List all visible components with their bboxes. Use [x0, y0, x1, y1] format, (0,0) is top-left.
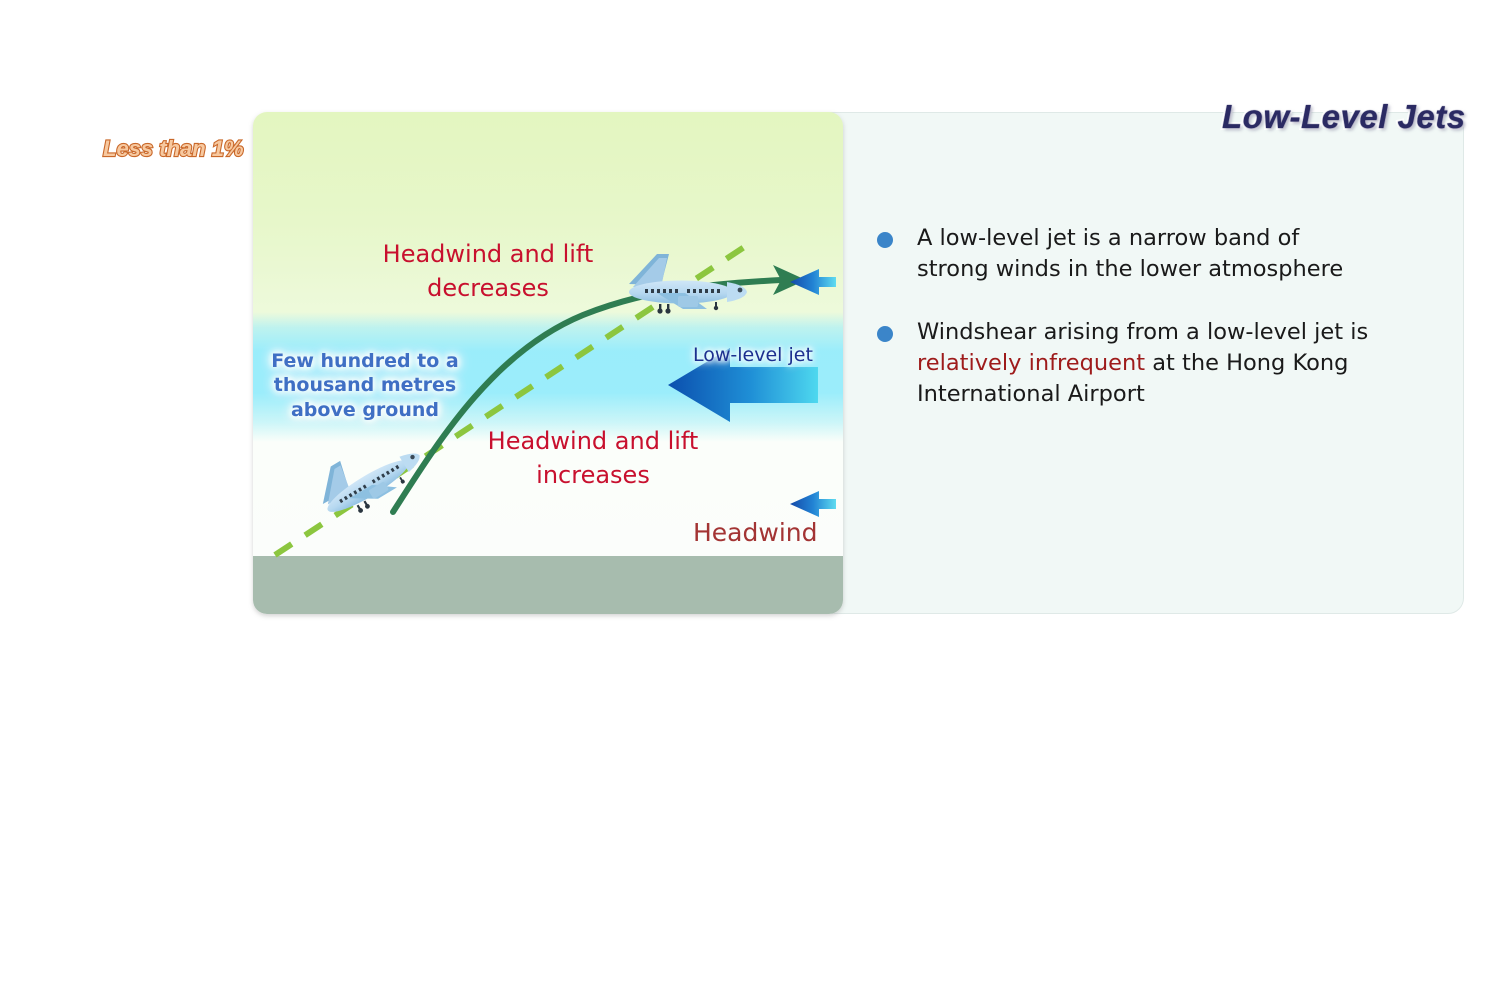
page-title: Low-Level Jets: [1222, 98, 1466, 136]
headwind-arrow-bottom-icon: [790, 491, 836, 517]
bullet-dot-icon: [877, 232, 893, 248]
bullet-1-segment-1: A low-level jet is a narrow band of stro…: [917, 225, 1343, 282]
label-low-level-jet: Low-level jet: [693, 344, 813, 366]
bullet-dot-icon: [877, 326, 893, 342]
frequency-tag: Less than 1%: [103, 136, 244, 162]
label-altitude-range: Few hundred to a thousand metres above g…: [265, 349, 465, 422]
list-item: A low-level jet is a narrow band of stro…: [877, 223, 1377, 285]
aircraft-climbing: [308, 424, 429, 527]
label-headwind: Headwind: [693, 518, 817, 547]
bullet-list: A low-level jet is a narrow band of stro…: [877, 223, 1377, 442]
label-lift-increases: Headwind and lift increases: [468, 424, 718, 492]
diagram-panel: Headwind and lift decreases Few hundred …: [253, 112, 843, 614]
bullet-text-1: A low-level jet is a narrow band of stro…: [917, 223, 1377, 285]
list-item: Windshear arising from a low-level jet i…: [877, 317, 1377, 410]
bullet-text-2: Windshear arising from a low-level jet i…: [917, 317, 1377, 410]
bullet-2-segment-1: Windshear arising from a low-level jet i…: [917, 319, 1368, 345]
aircraft-level: [629, 254, 747, 314]
headwind-arrow-top-icon: [790, 269, 836, 295]
bullet-2-highlight: relatively infrequent: [917, 350, 1145, 376]
label-lift-decreases: Headwind and lift decreases: [373, 237, 603, 305]
